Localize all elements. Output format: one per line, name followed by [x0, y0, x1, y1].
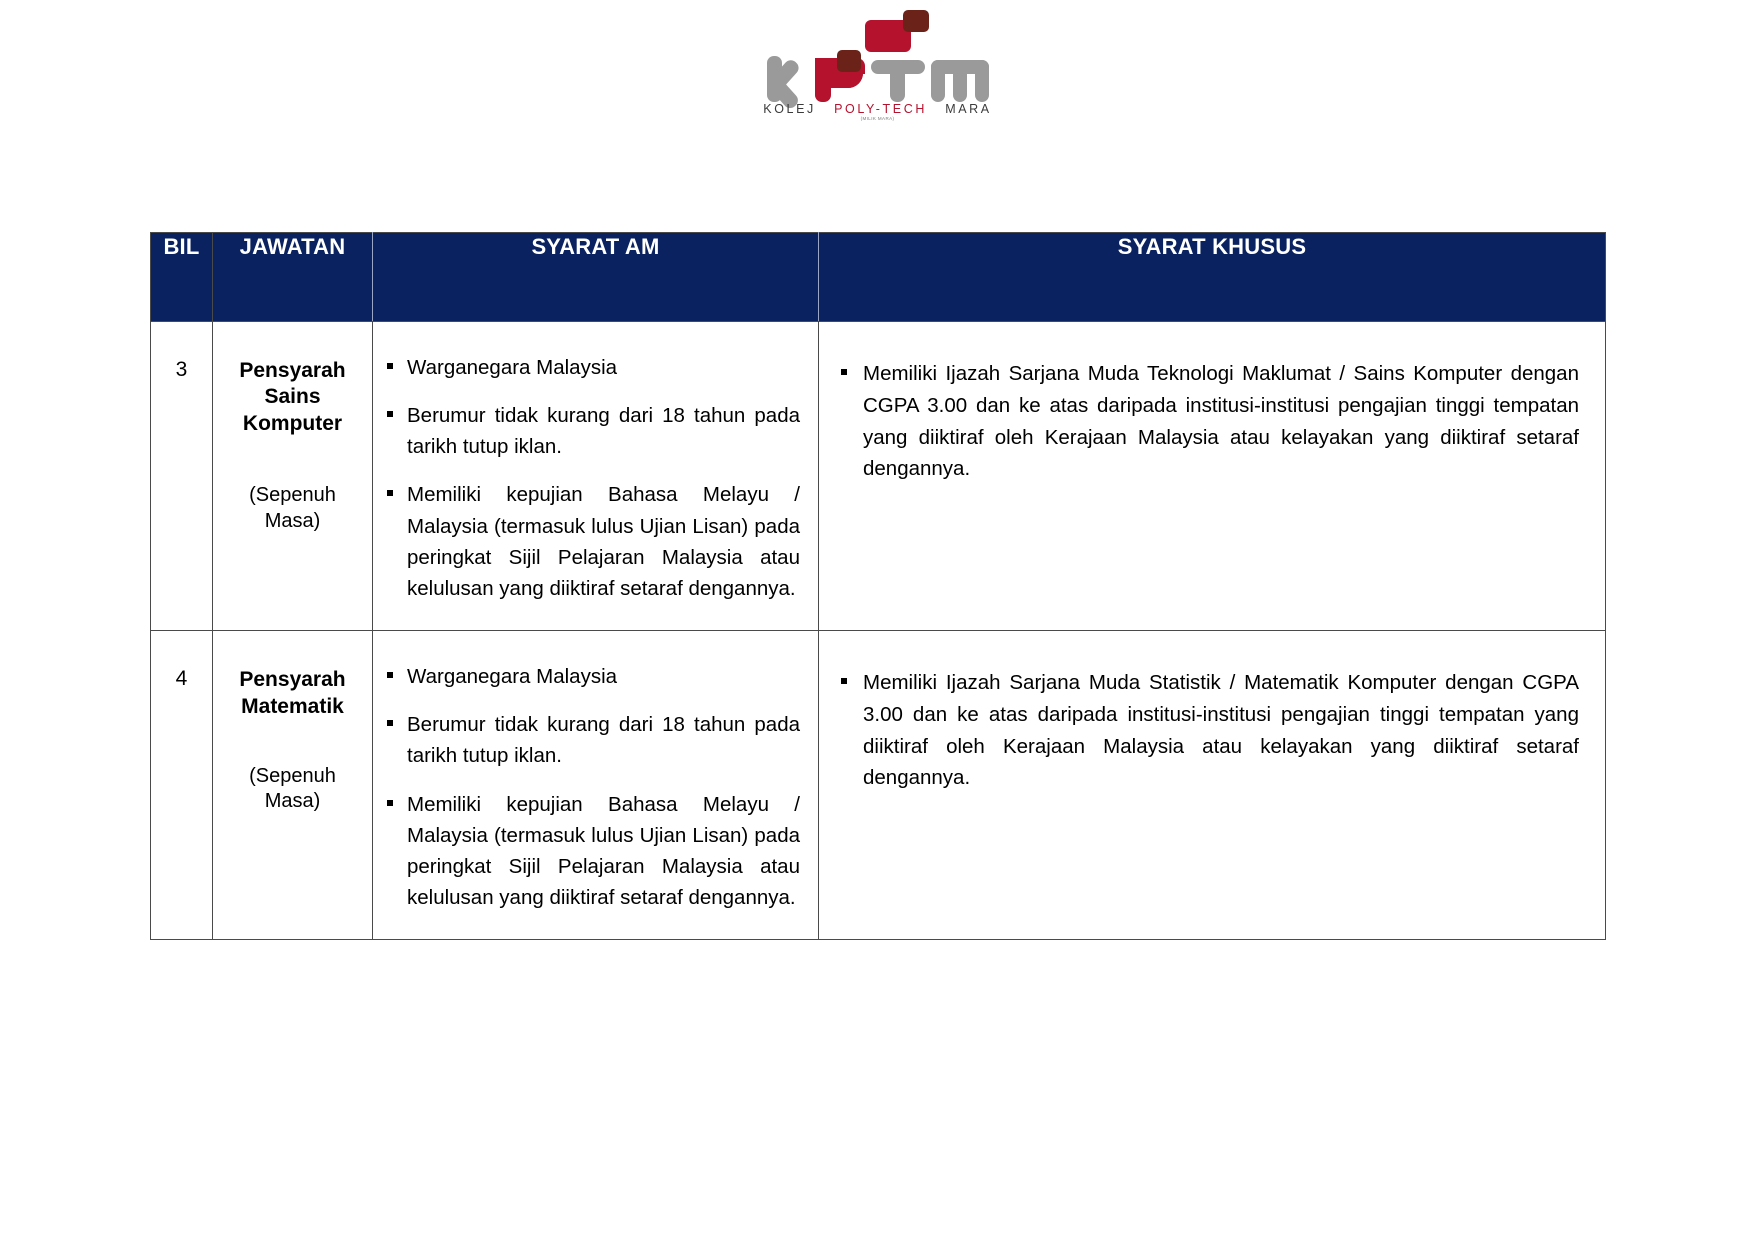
list-item: Memiliki Ijazah Sarjana Muda Teknologi M… — [837, 358, 1579, 485]
logo-letter-m-left — [931, 60, 945, 102]
list-item: Berumur tidak kurang dari 18 tahun pada … — [383, 400, 800, 462]
table-header-row: BIL JAWATAN SYARAT AM SYARAT KHUSUS — [151, 233, 1606, 322]
list-item: Warganegara Malaysia — [383, 352, 800, 383]
job-title: Pensyarah Sains Komputer — [221, 358, 364, 437]
job-mode: (Sepenuh Masa) — [221, 764, 364, 814]
logo-header: KOLEJ POLY-TECH MARA (MILIK MARA) — [0, 20, 1755, 130]
syarat-am-list: Warganegara Malaysia Berumur tidak kuran… — [383, 352, 800, 604]
row-syarat-khusus: Memiliki Ijazah Sarjana Muda Teknologi M… — [819, 322, 1606, 631]
column-header-jawatan: JAWATAN — [213, 233, 373, 322]
list-item: Memiliki Ijazah Sarjana Muda Statistik /… — [837, 667, 1579, 794]
logo-letter-t-stem — [890, 60, 905, 102]
column-header-syarat-khusus: SYARAT KHUSUS — [819, 233, 1606, 322]
logo-subtext: (MILIK MARA) — [753, 116, 1003, 121]
row-bil: 4 — [151, 631, 213, 940]
column-header-syarat-am: SYARAT AM — [373, 233, 819, 322]
logo-letter-m-right — [975, 60, 989, 102]
logo-tagline: KOLEJ POLY-TECH MARA — [753, 102, 1003, 116]
logo-letter-m-middle — [953, 60, 967, 102]
kptm-logo: KOLEJ POLY-TECH MARA (MILIK MARA) — [753, 20, 1003, 130]
row-bil: 3 — [151, 322, 213, 631]
table-row: 3 Pensyarah Sains Komputer (Sepenuh Masa… — [151, 322, 1606, 631]
row-syarat-khusus: Memiliki Ijazah Sarjana Muda Statistik /… — [819, 631, 1606, 940]
row-jawatan: Pensyarah Matematik (Sepenuh Masa) — [213, 631, 373, 940]
logo-tagline-polytech: POLY-TECH — [834, 102, 927, 116]
logo-tagline-mara: MARA — [945, 102, 992, 116]
column-header-bil: BIL — [151, 233, 213, 322]
kptm-logo-mark — [753, 20, 1003, 102]
requirements-table-container: BIL JAWATAN SYARAT AM SYARAT KHUSUS 3 Pe… — [150, 232, 1605, 940]
job-title: Pensyarah Matematik — [221, 667, 364, 720]
list-item: Memiliki kepujian Bahasa Melayu / Malays… — [383, 789, 800, 914]
logo-dark-square-top — [903, 10, 929, 32]
table-row: 4 Pensyarah Matematik (Sepenuh Masa) War… — [151, 631, 1606, 940]
list-item: Warganegara Malaysia — [383, 661, 800, 692]
logo-tagline-kolej: KOLEJ — [763, 102, 816, 116]
logo-dark-square-inner — [837, 50, 861, 72]
row-syarat-am: Warganegara Malaysia Berumur tidak kuran… — [373, 322, 819, 631]
table-header: BIL JAWATAN SYARAT AM SYARAT KHUSUS — [151, 233, 1606, 322]
syarat-am-list: Warganegara Malaysia Berumur tidak kuran… — [383, 661, 800, 913]
syarat-khusus-list: Memiliki Ijazah Sarjana Muda Teknologi M… — [837, 358, 1579, 485]
row-jawatan: Pensyarah Sains Komputer (Sepenuh Masa) — [213, 322, 373, 631]
row-syarat-am: Warganegara Malaysia Berumur tidak kuran… — [373, 631, 819, 940]
job-mode: (Sepenuh Masa) — [221, 483, 364, 533]
list-item: Memiliki kepujian Bahasa Melayu / Malays… — [383, 479, 800, 604]
syarat-khusus-list: Memiliki Ijazah Sarjana Muda Statistik /… — [837, 667, 1579, 794]
list-item: Berumur tidak kurang dari 18 tahun pada … — [383, 709, 800, 771]
requirements-table: BIL JAWATAN SYARAT AM SYARAT KHUSUS 3 Pe… — [150, 232, 1606, 940]
table-body: 3 Pensyarah Sains Komputer (Sepenuh Masa… — [151, 322, 1606, 940]
